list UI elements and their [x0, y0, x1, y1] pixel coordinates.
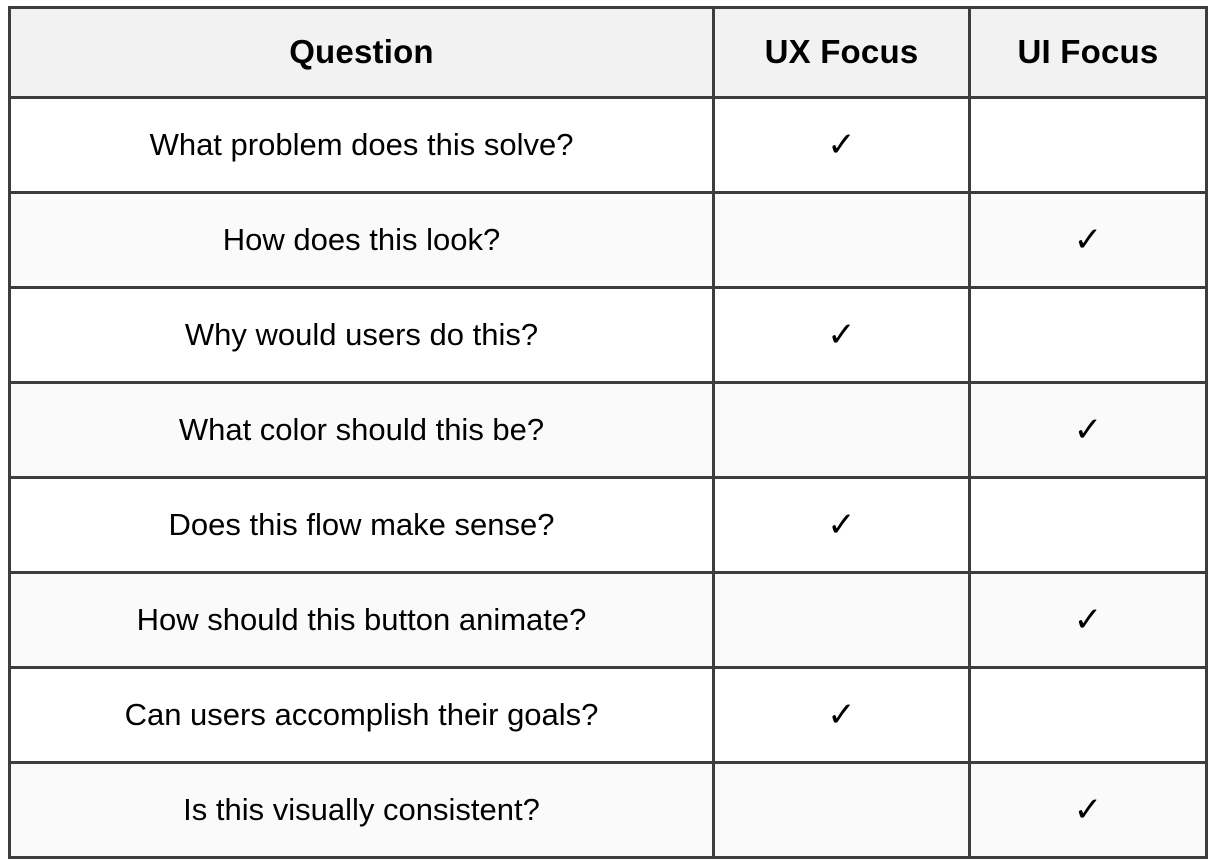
check-icon: ✓ [1074, 793, 1103, 827]
ux-focus-cell: ✓ [714, 98, 970, 193]
ui-focus-cell: ✓ [970, 573, 1207, 668]
comparison-table-container: Question UX Focus UI Focus What problem … [8, 6, 1208, 855]
column-header-ux-focus: UX Focus [714, 8, 970, 98]
table-row: Why would users do this?✓ [10, 288, 1207, 383]
table-body: What problem does this solve?✓How does t… [10, 98, 1207, 858]
empty-cell-marker [1088, 724, 1089, 725]
question-cell: What problem does this solve? [10, 98, 714, 193]
ui-focus-cell [970, 478, 1207, 573]
ux-focus-cell: ✓ [714, 668, 970, 763]
table-row: How should this button animate?✓ [10, 573, 1207, 668]
ui-focus-cell: ✓ [970, 193, 1207, 288]
table-header-row: Question UX Focus UI Focus [10, 8, 1207, 98]
question-cell: Why would users do this? [10, 288, 714, 383]
question-cell: Does this flow make sense? [10, 478, 714, 573]
empty-cell-marker [1088, 344, 1089, 345]
question-cell: Is this visually consistent? [10, 763, 714, 858]
ui-focus-cell [970, 668, 1207, 763]
empty-cell-marker [1088, 154, 1089, 155]
question-cell: What color should this be? [10, 383, 714, 478]
check-icon: ✓ [827, 128, 856, 162]
table-row: How does this look?✓ [10, 193, 1207, 288]
question-cell: How does this look? [10, 193, 714, 288]
table-row: Is this visually consistent?✓ [10, 763, 1207, 858]
ux-ui-focus-comparison-table: Question UX Focus UI Focus What problem … [8, 6, 1208, 859]
empty-cell-marker [841, 819, 842, 820]
table-row: What problem does this solve?✓ [10, 98, 1207, 193]
check-icon: ✓ [827, 508, 856, 542]
question-cell: How should this button animate? [10, 573, 714, 668]
ux-focus-cell: ✓ [714, 288, 970, 383]
table-row: Can users accomplish their goals?✓ [10, 668, 1207, 763]
check-icon: ✓ [1074, 413, 1103, 447]
table-header: Question UX Focus UI Focus [10, 8, 1207, 98]
ux-focus-cell [714, 763, 970, 858]
ui-focus-cell [970, 288, 1207, 383]
check-icon: ✓ [827, 698, 856, 732]
ui-focus-cell: ✓ [970, 763, 1207, 858]
column-header-ui-focus: UI Focus [970, 8, 1207, 98]
ui-focus-cell [970, 98, 1207, 193]
check-icon: ✓ [827, 318, 856, 352]
empty-cell-marker [841, 249, 842, 250]
ui-focus-cell: ✓ [970, 383, 1207, 478]
empty-cell-marker [1088, 534, 1089, 535]
ux-focus-cell: ✓ [714, 478, 970, 573]
ux-focus-cell [714, 193, 970, 288]
table-row: Does this flow make sense?✓ [10, 478, 1207, 573]
empty-cell-marker [841, 439, 842, 440]
ux-focus-cell [714, 573, 970, 668]
check-icon: ✓ [1074, 223, 1103, 257]
column-header-question: Question [10, 8, 714, 98]
ux-focus-cell [714, 383, 970, 478]
table-row: What color should this be?✓ [10, 383, 1207, 478]
page-root: Question UX Focus UI Focus What problem … [0, 0, 1218, 861]
check-icon: ✓ [1074, 603, 1103, 637]
question-cell: Can users accomplish their goals? [10, 668, 714, 763]
empty-cell-marker [841, 629, 842, 630]
